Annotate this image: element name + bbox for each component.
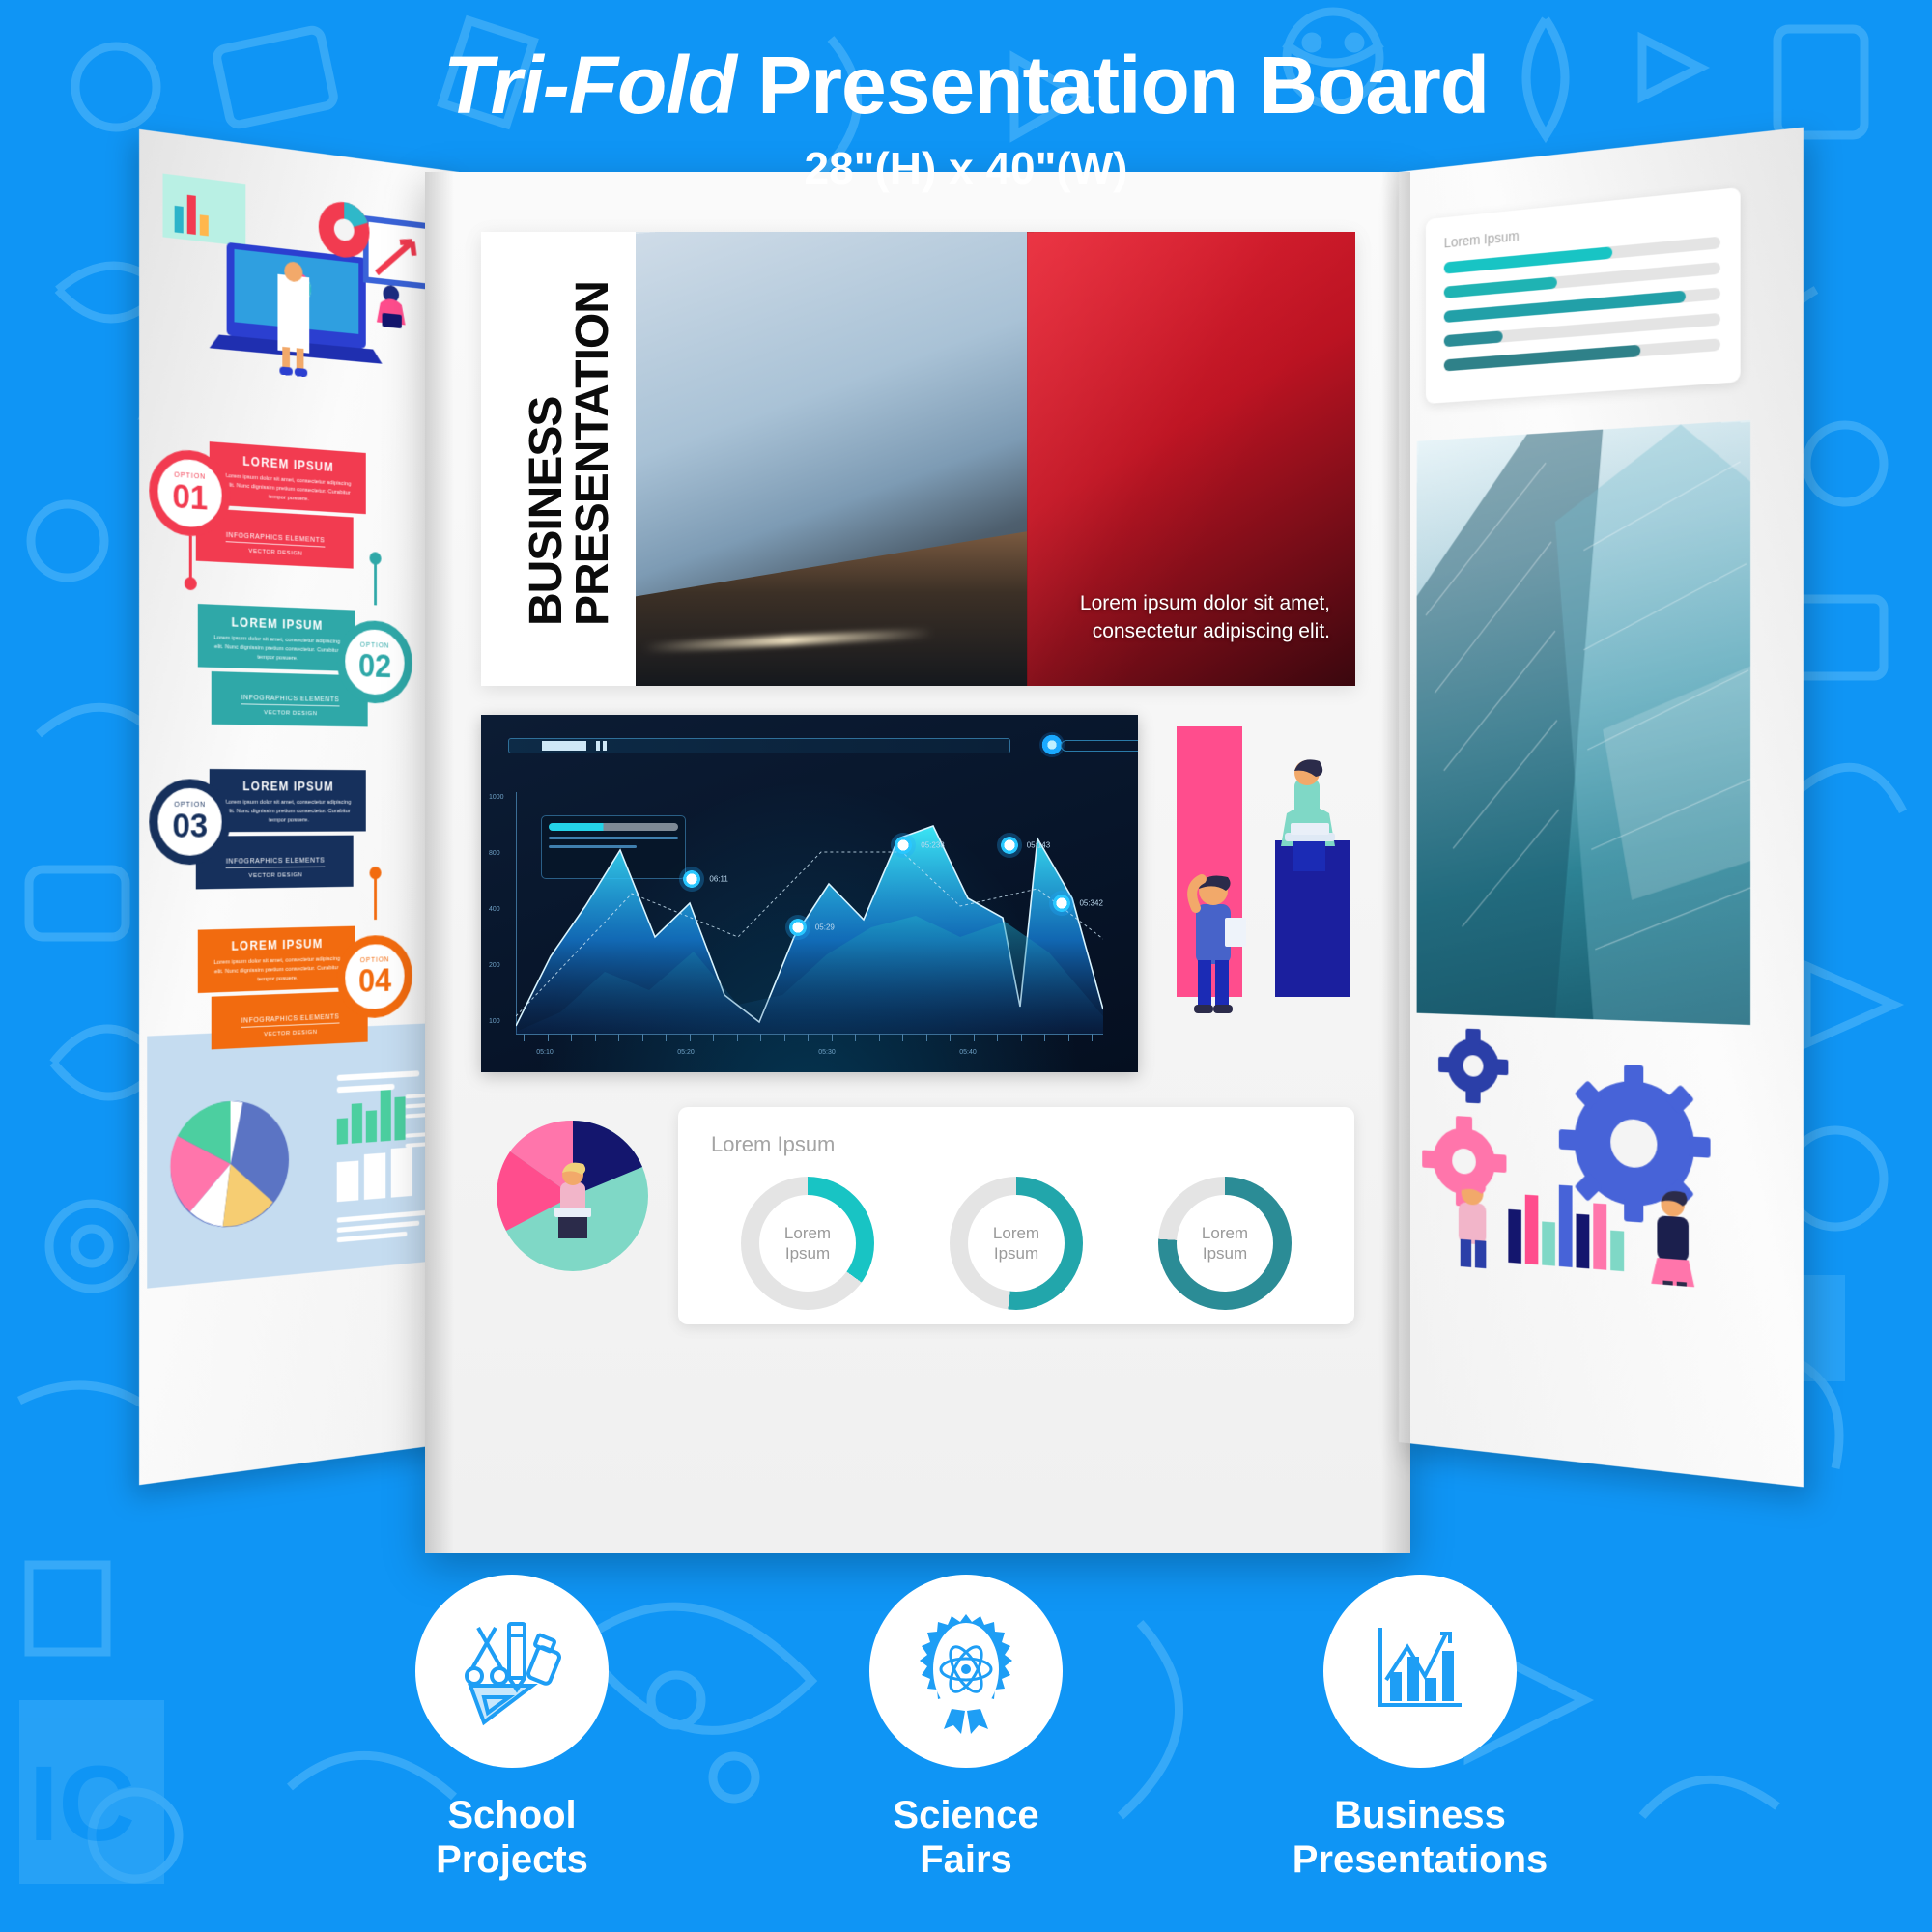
donut-label-2: LoremIpsum [950,1177,1083,1310]
option-text-3: Lorem ipsum dolor sit amet, consectetur … [221,799,355,826]
fold-shadow-right [1381,172,1410,1553]
option-badge-4: OPTION 04 [337,934,412,1019]
x-tick [855,1034,856,1041]
page-title: Tri-Fold Presentation Board [0,39,1932,132]
woman-dark-icon [1651,1189,1694,1287]
feature-label-3: Business Presentations [1275,1793,1565,1882]
fold-shadow-left [425,172,454,1553]
donut-label-3: LoremIpsum [1158,1177,1292,1310]
x-tick-label: 05:30 [818,1049,836,1056]
scrubber-tail [1061,740,1138,752]
option-text-1: Lorem ipsum dolor sit amet, consectetur … [221,471,355,507]
y-tick-label: 800 [489,850,500,857]
header: Tri-Fold Presentation Board 28"(H) x 40"… [0,0,1932,194]
option-footer-line1-3: INFOGRAPHICS ELEMENTS [226,857,325,868]
x-tick-label: 05:10 [536,1049,554,1056]
y-tick-label: 100 [489,1018,500,1025]
feature-icon-circle-2 [869,1575,1063,1768]
progress-fill-4 [1444,330,1503,347]
feature-label-1-line1: School [367,1793,657,1837]
x-tick [950,1034,951,1041]
option-badge-3: OPTION 03 [149,779,230,865]
hero-glass-building-photo [636,232,1027,686]
option-footer-line2-3: VECTOR DESIGN [206,872,344,880]
dashboard-area-chart: 1000800400200100 05:1005:2005:3005:40 [481,715,1138,1072]
option-badge-number-2: 02 [358,649,391,683]
progress-fill-5 [1444,345,1640,372]
bar-chart-icon [1357,1608,1483,1734]
x-tick [902,1034,903,1041]
x-tick [808,1034,809,1041]
x-tick [997,1034,998,1041]
feature-label-1-line2: Projects [367,1837,657,1882]
hero-banner: BUSINESS PRESENTATION Lorem ipsum dolor … [481,232,1355,686]
option-block-2: OPTION 02 LOREM IPSUM Lorem ipsum dolor … [196,596,413,752]
option-footer-line1-2: INFOGRAPHICS ELEMENTS [241,695,340,707]
donut-chart-3: LoremIpsum [1158,1177,1292,1310]
x-tick [571,1034,572,1041]
donut-card-title: Lorem Ipsum [711,1132,835,1157]
chart-marker-label-3: 05:238 [921,841,944,850]
option-badge-number-1: 01 [172,479,208,515]
option-footer-line2-2: VECTOR DESIGN [221,709,359,718]
x-tick [524,1034,525,1041]
feature-icon-circle-1 [415,1575,609,1768]
people-illustration [1171,715,1356,1072]
x-tick [548,1034,549,1041]
progress-fill-1 [1444,246,1612,274]
x-tick [926,1034,927,1041]
option-connector-4 [374,876,377,920]
feature-business-presentations[interactable]: Business Presentations [1275,1575,1565,1882]
option-badge-number-4: 04 [358,963,391,997]
chart-marker-3[interactable] [891,833,916,858]
x-tick [879,1034,880,1041]
page-subtitle: 28"(H) x 40"(W) [0,142,1932,194]
x-tick [690,1034,691,1041]
chart-marker-label-5: 05:342 [1079,899,1102,908]
donut-row: LoremIpsumLoremIpsumLoremIpsum [703,1177,1329,1310]
option-heading-3: LOREM IPSUM [221,780,355,794]
y-tick-label: 400 [489,906,500,913]
option-body-1: LOREM IPSUM Lorem ipsum dolor sit amet, … [210,441,366,514]
feature-label-3-line2: Presentations [1275,1837,1565,1882]
option-badge-2: OPTION 02 [337,619,412,704]
x-tick [1068,1034,1069,1041]
option-connector-2 [374,562,377,606]
option-block-1: OPTION 01 LOREM IPSUM Lorem ipsum dolor … [149,429,370,593]
option-badge-number-3: 03 [172,809,208,842]
x-tick [1092,1034,1093,1041]
x-tick [618,1034,619,1041]
x-tick-label: 05:40 [959,1049,977,1056]
timeline-scrubber[interactable] [508,738,1010,753]
option-footer-line2-4: VECTOR DESIGN [221,1028,359,1040]
x-tick [737,1034,738,1041]
x-tick [784,1034,785,1041]
option-footer-line1-1: INFOGRAPHICS ELEMENTS [226,532,325,548]
donut-metrics-card: Lorem Ipsum LoremIpsumLoremIpsumLoremIps… [678,1107,1354,1324]
donut-chart-1: LoremIpsum [741,1177,874,1310]
hero-red-building-photo: Lorem ipsum dolor sit amet, consectetur … [1027,232,1355,686]
craft-supplies-icon [449,1608,575,1734]
x-tick [713,1034,714,1041]
hero-title-line1: BUSINESS [524,240,570,626]
feature-school-projects[interactable]: School Projects [367,1575,657,1882]
x-tick [760,1034,761,1041]
man-with-clipboard-icon [1192,876,1246,1014]
chart-marker-label-4: 05:143 [1027,841,1050,850]
option-footer-line2-1: VECTOR DESIGN [206,546,344,559]
feature-label-2-line2: Fairs [821,1837,1111,1882]
chart-marker-5[interactable] [1049,891,1074,916]
title-italic-part: Tri-Fold [443,40,736,130]
x-tick [1044,1034,1045,1041]
left-panel-report-card [147,1023,443,1289]
board-left-panel: OPTION 01 LOREM IPSUM Lorem ipsum dolor … [139,129,459,1485]
left-panel-illustration [155,162,441,422]
x-tick [642,1034,643,1041]
feature-label-2-line1: Science [821,1793,1111,1837]
woman-with-laptop-icon [1281,759,1335,871]
progress-fill-2 [1444,276,1557,298]
y-tick-label: 200 [489,962,500,969]
x-tick [666,1034,667,1041]
hero-title-line2: PRESENTATION [570,240,616,626]
chart-marker-4[interactable] [997,833,1022,858]
donut-chart-2: LoremIpsum [950,1177,1083,1310]
progress-bar-list [1444,237,1720,372]
chart-marker-2[interactable] [785,915,810,940]
feature-label-2: Science Fairs [821,1793,1111,1882]
x-tick-label: 05:20 [677,1049,695,1056]
area-chart-svg [516,792,1103,1034]
atom-award-icon [903,1608,1029,1734]
y-tick-label: 1000 [489,794,504,801]
donut-label-1: LoremIpsum [741,1177,874,1310]
option-text-2: Lorem ipsum dolor sit amet, consectetur … [210,634,345,665]
x-tick [1021,1034,1022,1041]
feature-label-1: School Projects [367,1793,657,1882]
option-heading-4: LOREM IPSUM [210,936,345,953]
feature-science-fairs[interactable]: Science Fairs [821,1575,1111,1882]
chart-marker-1[interactable] [679,867,704,892]
woman-pink-icon [1459,1179,1487,1268]
x-tick [974,1034,975,1041]
option-block-3: OPTION 03 LOREM IPSUM Lorem ipsum dolor … [149,760,370,915]
hero-title-column: BUSINESS PRESENTATION [481,232,636,686]
people-illustration-column [1171,715,1356,1072]
option-text-4: Lorem ipsum dolor sit amet, consectetur … [210,955,345,987]
hero-caption: Lorem ipsum dolor sit amet, consectetur … [1069,590,1330,645]
pie-chart-illustration [481,1101,665,1285]
progress-bar-card: Lorem Ipsum [1426,187,1741,404]
trifold-board: OPTION 01 LOREM IPSUM Lorem ipsum dolor … [126,172,1806,1553]
skyscraper-photo [1417,420,1750,1025]
chart-marker-label-1: 06:11 [709,875,727,884]
feature-label-3-line1: Business [1275,1793,1565,1837]
board-right-panel: Lorem Ipsum [1399,128,1804,1488]
chart-marker-label-2: 05:29 [815,923,835,932]
x-tick [595,1034,596,1041]
option-connector-1 [189,536,192,582]
gears-and-people-illustration [1420,1023,1749,1292]
option-body-4: LOREM IPSUM Lorem ipsum dolor sit amet, … [198,926,355,993]
title-bold-part: Presentation Board [757,40,1489,130]
feature-list: School Projects [0,1575,1932,1882]
option-footer-line1-4: INFOGRAPHICS ELEMENTS [241,1013,340,1028]
feature-icon-circle-3 [1323,1575,1517,1768]
x-tick [832,1034,833,1041]
option-body-2: LOREM IPSUM Lorem ipsum dolor sit amet, … [198,604,355,671]
option-body-3: LOREM IPSUM Lorem ipsum dolor sit amet, … [210,769,366,832]
board-center-panel: BUSINESS PRESENTATION Lorem ipsum dolor … [425,172,1410,1553]
hero-vertical-title: BUSINESS PRESENTATION [524,240,616,626]
option-heading-2: LOREM IPSUM [210,614,345,634]
